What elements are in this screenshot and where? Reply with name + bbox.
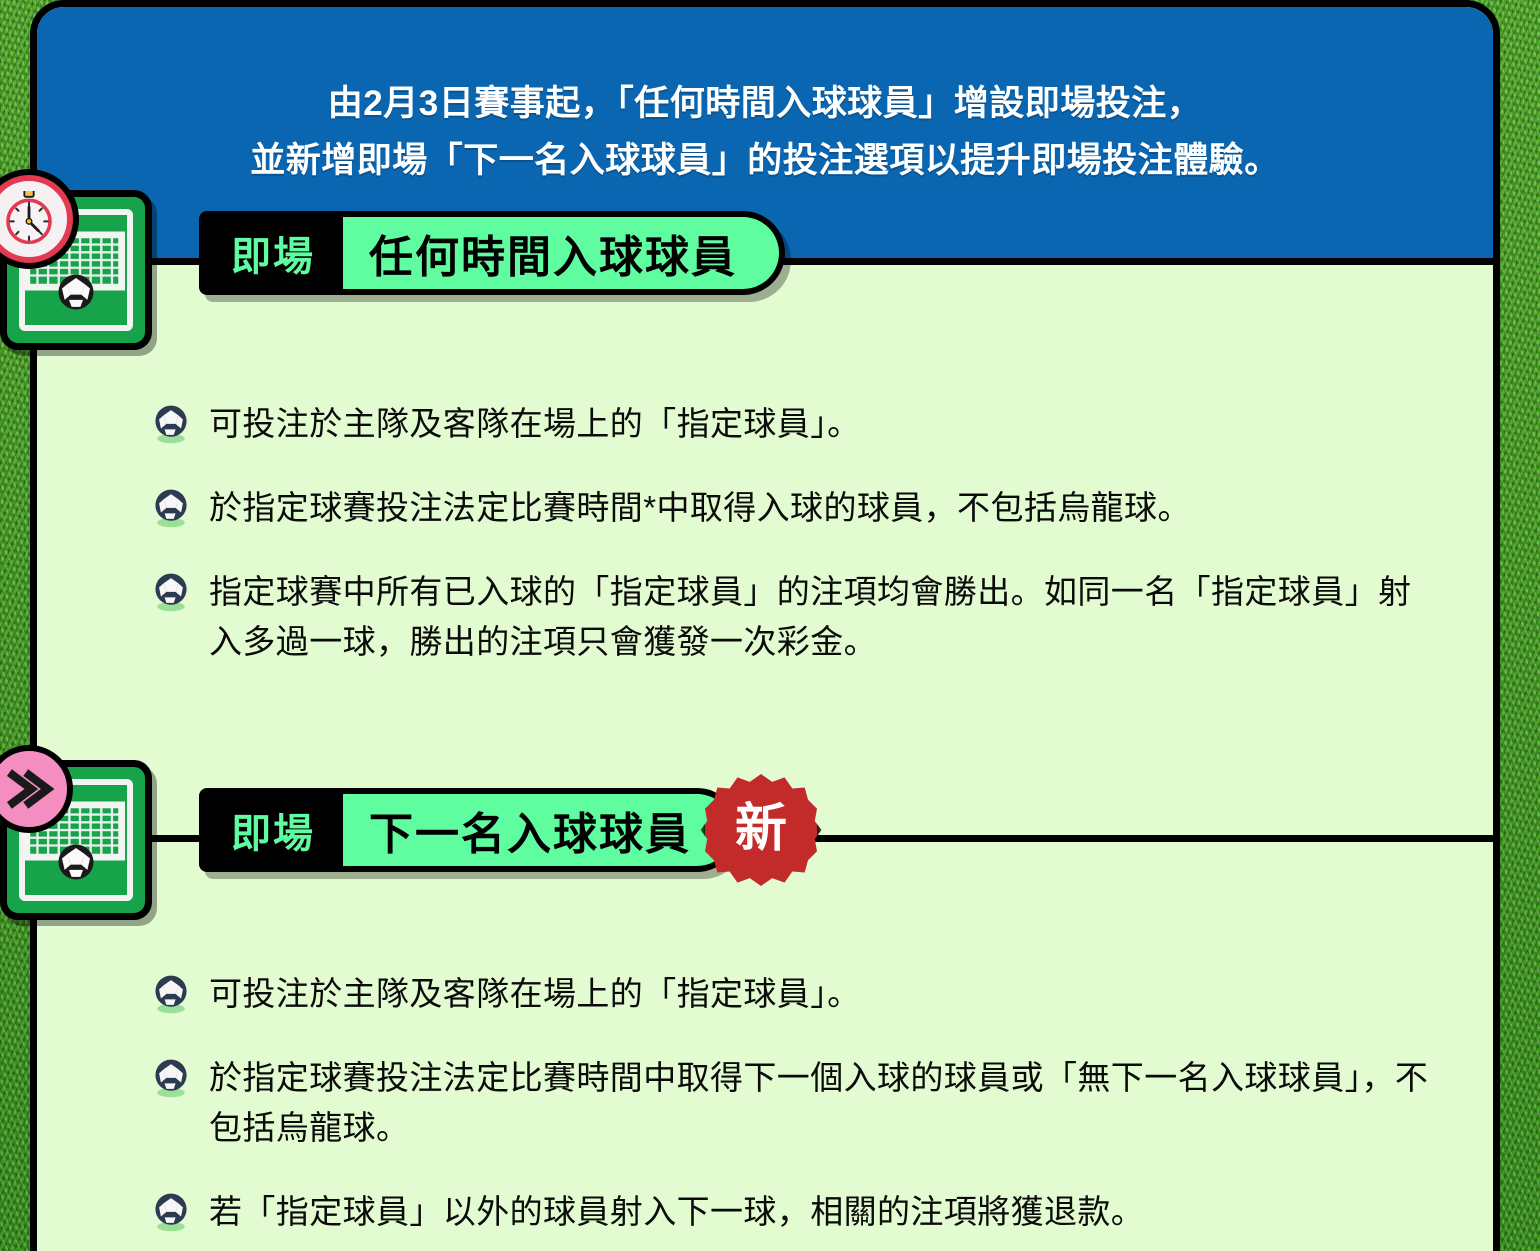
new-badge: 新 [705,774,817,886]
goal-field-card-2 [0,760,152,920]
section-header-1: 即場 任何時間入球球員 [37,205,1493,301]
section-title-1: 任何時間入球球員 [343,211,785,295]
new-badge-label: 新 [705,774,817,886]
bullet-list-2: 可投注於主隊及客隊在場上的「指定球員」。 於指定球賽投注法定比賽時間中取得下一個… [149,969,1433,1251]
bullet-text: 可投注於主隊及客隊在場上的「指定球員」。 [209,399,861,449]
corner-arc-icon [23,307,43,327]
soccer-ball-icon [149,569,193,613]
list-item: 於指定球賽投注法定比賽時間中取得下一個入球的球員或「無下一名入球球員」，不包括烏… [149,1053,1433,1153]
soccer-ball-icon [149,1055,193,1099]
soccer-ball-icon [55,841,97,883]
bullet-text: 於指定球賽投注法定比賽時間中取得下一個入球的球員或「無下一名入球球員」，不包括烏… [209,1053,1433,1153]
announcement-line-1: 由2月3日賽事起，「任何時間入球球員」增設即場投注， [250,76,1280,133]
soccer-ball-icon [149,401,193,445]
page-root: 由2月3日賽事起，「任何時間入球球員」增設即場投注， 並新增即場「下一名入球球員… [0,0,1540,1251]
section-pill-2: 即場 下一名入球球員 [199,788,739,872]
soccer-ball-icon [149,971,193,1015]
section-header-2: 即場 下一名入球球員 新 [37,782,1493,878]
live-tag-2: 即場 [199,788,343,872]
list-item: 可投注於主隊及客隊在場上的「指定球員」。 [149,399,1433,449]
announcement-line-2: 並新增即場「下一名入球球員」的投注選項以提升即場投注體驗。 [250,133,1280,190]
soccer-ball-icon [149,1189,193,1233]
soccer-ball-icon [55,271,97,313]
goal-field-card-1 [0,190,152,350]
bullet-text: 於指定球賽投注法定比賽時間*中取得入球的球員，不包括烏龍球。 [209,483,1191,533]
live-tag-1: 即場 [199,211,343,295]
bullet-list-1: 可投注於主隊及客隊在場上的「指定球員」。 於指定球賽投注法定比賽時間*中取得入球… [149,399,1433,702]
corner-arc-icon [23,877,43,897]
corner-arc-icon [109,213,129,233]
bullet-text: 若「指定球員」以外的球員射入下一球，相關的注項將獲退款。 [209,1187,1144,1237]
section-pill-1: 即場 任何時間入球球員 [199,211,785,295]
bullet-text: 可投注於主隊及客隊在場上的「指定球員」。 [209,969,861,1019]
section-title-2: 下一名入球球員 [343,788,739,872]
corner-arc-icon [109,877,129,897]
list-item: 若「指定球員」以外的球員射入下一球，相關的注項將獲退款。 [149,1187,1433,1237]
list-item: 可投注於主隊及客隊在場上的「指定球員」。 [149,969,1433,1019]
corner-arc-icon [109,783,129,803]
bullet-text: 指定球賽中所有已入球的「指定球員」的注項均會勝出。如同一名「指定球員」射入多過一… [209,567,1433,667]
corner-arc-icon [109,307,129,327]
list-item: 指定球賽中所有已入球的「指定球員」的注項均會勝出。如同一名「指定球員」射入多過一… [149,567,1433,667]
soccer-ball-icon [149,485,193,529]
content-card: 由2月3日賽事起，「任何時間入球球員」增設即場投注， 並新增即場「下一名入球球員… [30,0,1500,1251]
announcement-text: 由2月3日賽事起，「任何時間入球球員」增設即場投注， 並新增即場「下一名入球球員… [190,76,1340,189]
list-item: 於指定球賽投注法定比賽時間*中取得入球的球員，不包括烏龍球。 [149,483,1433,533]
